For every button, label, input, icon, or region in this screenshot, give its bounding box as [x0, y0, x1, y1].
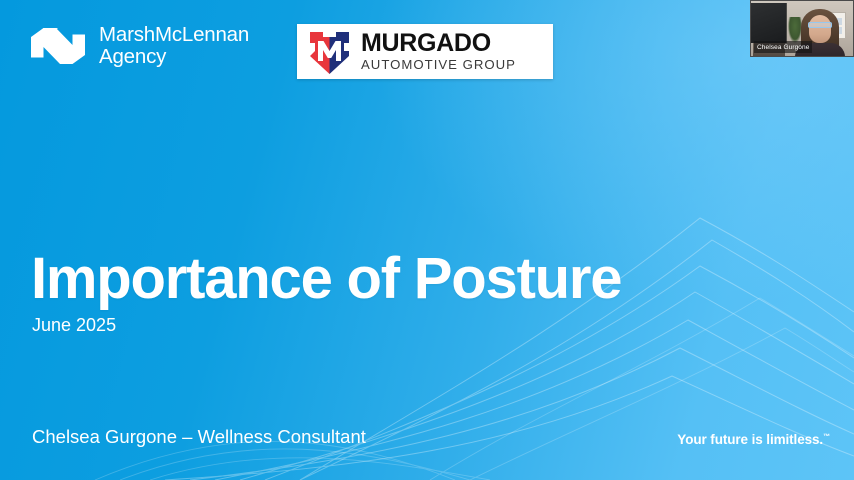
participant-name-label: Chelsea Gurgone	[754, 41, 812, 53]
slide-title: Importance of Posture	[31, 249, 621, 309]
participant-video-thumbnail[interactable]: Chelsea Gurgone	[750, 0, 854, 57]
murgado-shield-icon	[306, 29, 353, 75]
presentation-slide: MarshMcLennan Agency	[0, 0, 854, 480]
meeting-screen-share-view: MarshMcLennan Agency	[0, 0, 854, 480]
webcam-television	[751, 3, 787, 43]
murgado-name: MURGADO	[361, 31, 516, 56]
trademark-symbol: ™	[823, 434, 830, 441]
marsh-mclennan-logo-mark	[31, 25, 85, 67]
slide-tagline-text: Your future is limitless.	[677, 432, 823, 447]
slide-presenter: Chelsea Gurgone – Wellness Consultant	[32, 426, 366, 448]
murgado-automotive-group-logo: MURGADO AUTOMOTIVE GROUP	[297, 24, 553, 79]
marsh-mclennan-agency-name: MarshMcLennan Agency	[99, 24, 249, 68]
glasses-icon	[808, 22, 832, 28]
marsh-mclennan-agency-logo: MarshMcLennan Agency	[31, 24, 249, 68]
slide-tagline: Your future is limitless.™	[677, 432, 830, 447]
murgado-subtitle: AUTOMOTIVE GROUP	[361, 58, 516, 71]
slide-date: June 2025	[32, 315, 116, 336]
webcam-person-face	[809, 15, 831, 43]
